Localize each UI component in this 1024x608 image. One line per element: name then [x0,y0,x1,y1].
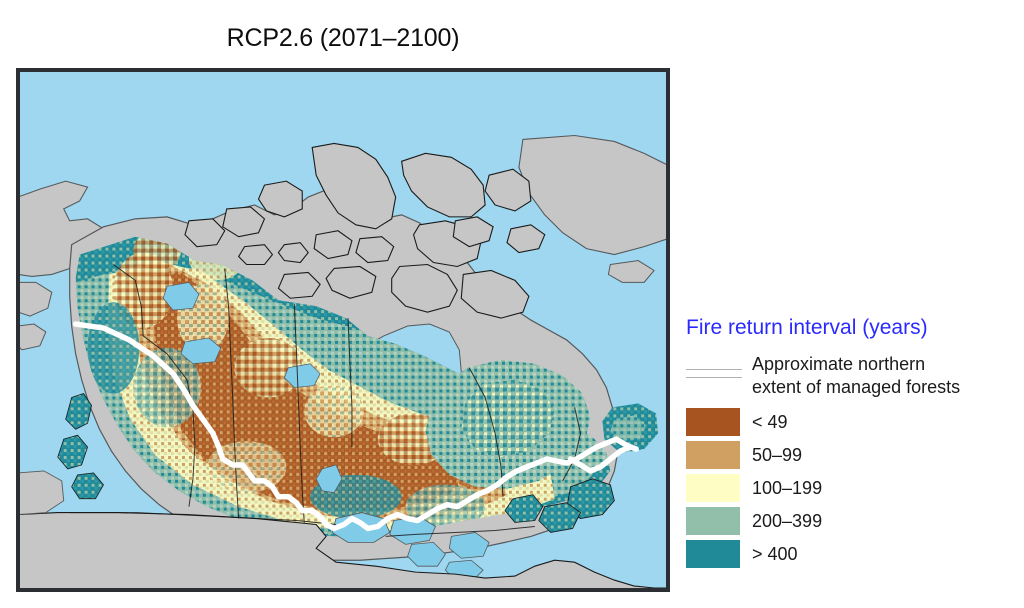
legend-swatch-3 [686,507,740,535]
legend-item-class-4[interactable]: > 400 [686,540,1016,568]
legend-item-class-0[interactable]: < 49 [686,408,1016,436]
map-panel[interactable] [16,68,670,592]
legend-swatch-label-3: 200–399 [752,511,822,532]
legend-class-list: < 4950–99100–199200–399> 400 [686,408,1016,568]
canada-fire-return-interval-map[interactable] [18,70,668,590]
legend-swatch-0 [686,408,740,436]
legend-item-class-2[interactable]: 100–199 [686,474,1016,502]
legend-swatch-label-2: 100–199 [752,478,822,499]
legend-swatch-4 [686,540,740,568]
managed-forest-line-icon [686,366,742,380]
legend-swatch-1 [686,441,740,469]
legend-title: Fire return interval (years) [686,315,1016,341]
legend-line-label: Approximate northern extent of managed f… [752,353,960,399]
map-legend: Fire return interval (years) Approximate… [686,315,1016,573]
page-title: RCP2.6 (2071–2100) [16,24,670,53]
legend-swatch-label-0: < 49 [752,412,788,433]
legend-swatch-2 [686,474,740,502]
legend-item-managed-forest-line[interactable]: Approximate northern extent of managed f… [686,353,1016,399]
legend-item-class-3[interactable]: 200–399 [686,507,1016,535]
legend-line-label-line1: Approximate northern [752,353,960,376]
legend-line-label-line2: extent of managed forests [752,376,960,399]
legend-swatch-label-4: > 400 [752,544,798,565]
legend-item-class-1[interactable]: 50–99 [686,441,1016,469]
legend-swatch-label-1: 50–99 [752,445,802,466]
